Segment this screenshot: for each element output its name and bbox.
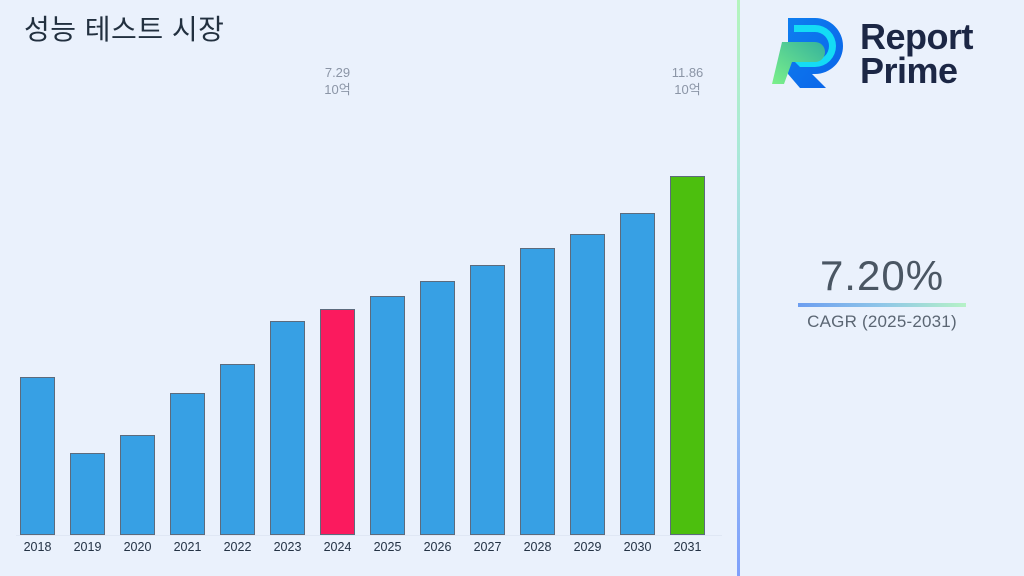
- bar-value-label-unit: 10억: [672, 81, 704, 98]
- bar-column: [20, 100, 55, 535]
- bar-2029[interactable]: [570, 234, 605, 535]
- bar-2024[interactable]: 7.2910억: [320, 309, 355, 535]
- cagr-divider-rule: [798, 303, 966, 307]
- bar-2023[interactable]: [270, 321, 305, 535]
- bar-column: [620, 100, 655, 535]
- x-tick-2025: 2025: [370, 540, 405, 554]
- cagr-block: 7.20% CAGR (2025-2031): [740, 252, 1024, 332]
- bar-2020[interactable]: [120, 435, 155, 535]
- logo-word-line1: Report: [860, 20, 973, 53]
- bar-value-label-2031: 11.8610억: [672, 64, 704, 100]
- side-panel: Report Prime 7.20% CAGR (2025-2031): [740, 0, 1024, 576]
- x-tick-2019: 2019: [70, 540, 105, 554]
- cagr-value: 7.20%: [740, 252, 1024, 299]
- report-prime-logo-icon: [770, 12, 850, 95]
- bar-value-label-number: 7.29: [324, 64, 350, 81]
- bar-column: [520, 100, 555, 535]
- x-tick-2020: 2020: [120, 540, 155, 554]
- bar-2030[interactable]: [620, 213, 655, 535]
- cagr-caption: CAGR (2025-2031): [740, 312, 1024, 332]
- bar-column: 7.2910억: [320, 100, 355, 535]
- bar-2026[interactable]: [420, 281, 455, 535]
- x-tick-2023: 2023: [270, 540, 305, 554]
- bar-column: [120, 100, 155, 535]
- x-axis-baseline: [16, 535, 722, 536]
- bar-column: [470, 100, 505, 535]
- x-axis-tick-labels: 2018201920202021202220232024202520262027…: [20, 540, 720, 554]
- bar-2022[interactable]: [220, 364, 255, 535]
- x-tick-2027: 2027: [470, 540, 505, 554]
- x-tick-2029: 2029: [570, 540, 605, 554]
- bar-value-label-number: 11.86: [672, 64, 704, 81]
- x-tick-2028: 2028: [520, 540, 555, 554]
- chart-panel: 성능 테스트 시장 7.2910억11.8610억 20182019202020…: [0, 0, 738, 576]
- bar-column: 11.8610억: [670, 100, 705, 535]
- bar-column: [170, 100, 205, 535]
- bar-column: [420, 100, 455, 535]
- bar-column: [570, 100, 605, 535]
- bar-2018[interactable]: [20, 377, 55, 535]
- x-tick-2018: 2018: [20, 540, 55, 554]
- x-tick-2024: 2024: [320, 540, 355, 554]
- bar-column: [370, 100, 405, 535]
- bar-2028[interactable]: [520, 248, 555, 535]
- logo-word-line2: Prime: [860, 54, 973, 87]
- x-tick-2030: 2030: [620, 540, 655, 554]
- x-tick-2022: 2022: [220, 540, 255, 554]
- bar-value-label-2024: 7.2910억: [324, 64, 350, 100]
- report-prime-logo: Report Prime: [770, 12, 973, 95]
- bar-column: [220, 100, 255, 535]
- bar-2019[interactable]: [70, 453, 105, 535]
- x-tick-2021: 2021: [170, 540, 205, 554]
- logo-wordmark: Report Prime: [860, 20, 973, 86]
- x-tick-2026: 2026: [420, 540, 455, 554]
- bar-2025[interactable]: [370, 296, 405, 535]
- bar-2027[interactable]: [470, 265, 505, 535]
- chart-title: 성능 테스트 시장: [24, 8, 224, 48]
- bar-2031[interactable]: 11.8610억: [670, 176, 705, 535]
- chart-plot-area: 7.2910억11.8610억: [0, 100, 738, 536]
- bar-2021[interactable]: [170, 393, 205, 535]
- bar-column: [70, 100, 105, 535]
- bar-value-label-unit: 10억: [324, 81, 350, 98]
- bar-series: 7.2910억11.8610억: [20, 100, 720, 535]
- bar-column: [270, 100, 305, 535]
- x-tick-2031: 2031: [670, 540, 705, 554]
